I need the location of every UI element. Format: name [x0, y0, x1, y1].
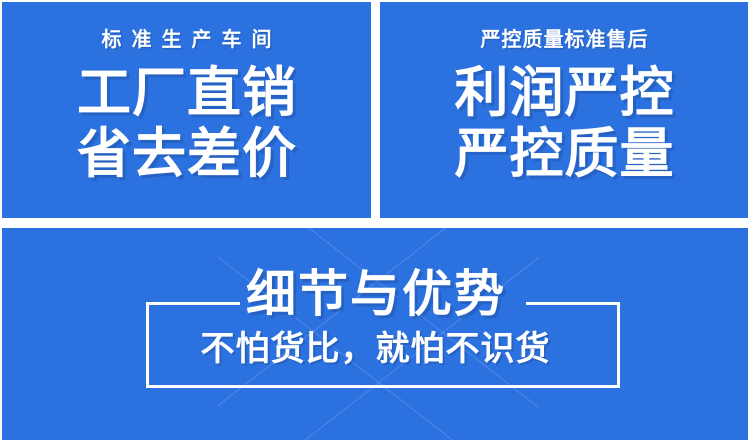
- panel-left-headline-line1: 工厂直销: [76, 66, 297, 121]
- details-panel: 细节与优势 不怕货比，就怕不识货: [2, 228, 748, 440]
- panel-left-headline-line2: 省去差价: [76, 127, 297, 182]
- details-panel-subtitle: 不怕货比，就怕不识货: [2, 332, 748, 366]
- panel-right-headline-line2: 严控质量: [454, 127, 675, 182]
- details-panel-title: 细节与优势: [2, 269, 748, 319]
- panel-right-eyebrow: 严控质量标准售后: [480, 30, 649, 50]
- feature-panel-left: 标准生产车间 工厂直销 省去差价: [2, 2, 371, 218]
- panel-right-headline-line1: 利润严控: [454, 66, 675, 121]
- feature-panel-right: 严控质量标准售后 利润严控 严控质量: [380, 2, 748, 218]
- panel-left-eyebrow: 标准生产车间: [92, 30, 282, 50]
- promo-banner: 标准生产车间 工厂直销 省去差价 严控质量标准售后 利润严控 严控质量 细节与优…: [0, 0, 750, 440]
